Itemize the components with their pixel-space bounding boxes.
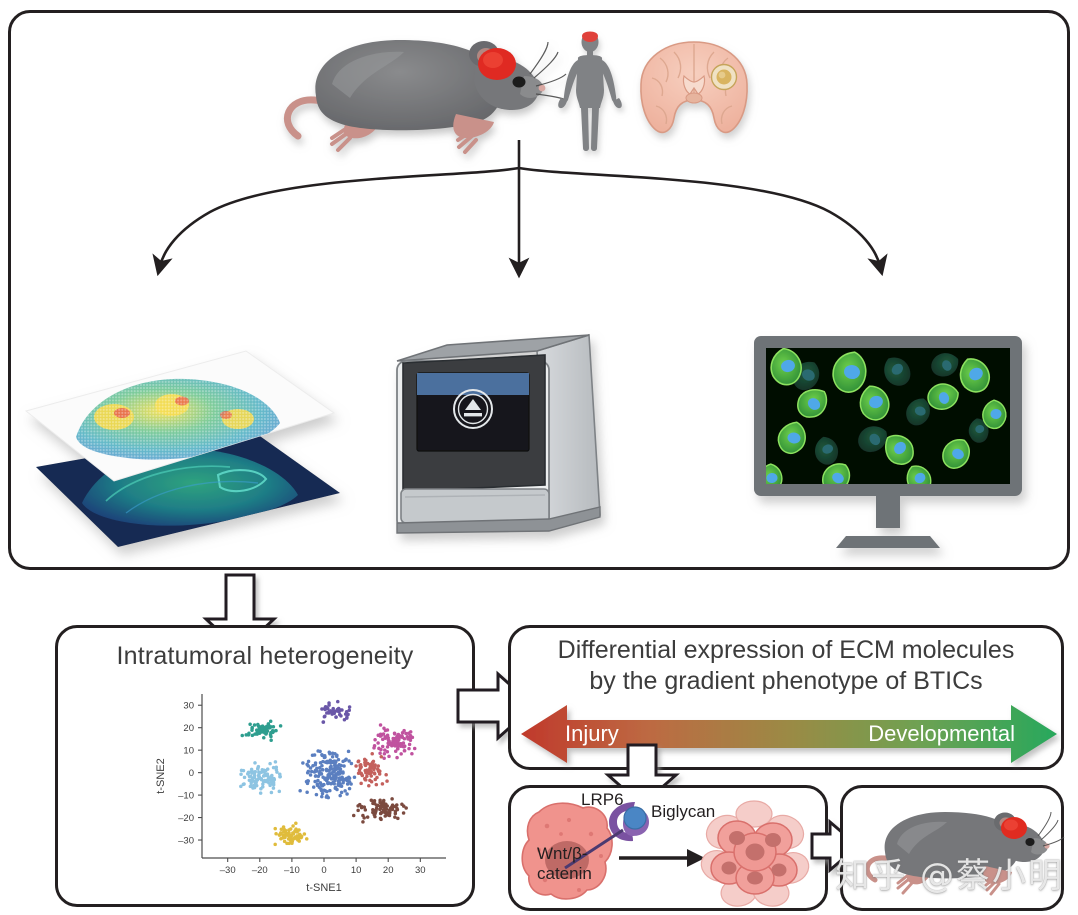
spatial-transcriptomics-illustration bbox=[22, 325, 352, 560]
svg-text:–30: –30 bbox=[178, 835, 194, 846]
tsne-cluster bbox=[320, 700, 351, 724]
svg-text:20: 20 bbox=[383, 865, 394, 876]
wnt-pathway-line1: Wnt/β- bbox=[537, 844, 587, 863]
ecm-expression-panel: Differential expression of ECM molecules… bbox=[508, 625, 1064, 770]
imaging-monitor-illustration bbox=[748, 330, 1028, 555]
pathway-to-sphere-arrow bbox=[619, 846, 705, 870]
svg-text:–10: –10 bbox=[178, 790, 194, 801]
gradient-left-label: Injury bbox=[565, 721, 619, 747]
svg-text:t-SNE2: t-SNE2 bbox=[155, 758, 167, 793]
svg-text:–20: –20 bbox=[252, 865, 268, 876]
tumor-sphere-illustration bbox=[701, 802, 807, 904]
wnt-pathway-label: Wnt/β- catenin bbox=[537, 844, 592, 884]
mouse-illustration bbox=[280, 18, 550, 158]
svg-text:t-SNE1: t-SNE1 bbox=[306, 882, 341, 894]
brain-section-illustration bbox=[634, 36, 754, 144]
ecm-panel-title: Differential expression of ECM molecules… bbox=[511, 635, 1061, 697]
svg-text:–30: –30 bbox=[220, 865, 236, 876]
mouse-model-illustration bbox=[859, 796, 1055, 904]
ecm-title-line2: by the gradient phenotype of BTICs bbox=[511, 666, 1061, 697]
tsne-scatter-plot: –30–20–100102030–30–20–100102030t-SNE1t-… bbox=[150, 686, 450, 901]
lrp6-label: LRP6 bbox=[581, 790, 624, 810]
gradient-right-label: Developmental bbox=[868, 721, 1015, 747]
ecm-title-line1: Differential expression of ECM molecules bbox=[511, 635, 1061, 666]
svg-text:10: 10 bbox=[183, 746, 194, 757]
intratumoral-heterogeneity-panel: Intratumoral heterogeneity –30–20–100102… bbox=[55, 625, 475, 907]
tsne-cluster bbox=[239, 760, 282, 795]
wnt-pathway-line2: catenin bbox=[537, 864, 592, 883]
svg-text:0: 0 bbox=[189, 768, 194, 779]
tsne-cluster bbox=[273, 821, 308, 846]
in-vivo-mouse-panel bbox=[840, 785, 1064, 911]
tsne-cluster bbox=[241, 719, 283, 742]
human-figure-illustration bbox=[556, 28, 624, 153]
wnt-signaling-panel: LRP6 Biglycan Wnt/β- catenin bbox=[508, 785, 828, 911]
tsne-cluster bbox=[372, 723, 416, 760]
svg-text:0: 0 bbox=[321, 865, 326, 876]
svg-text:30: 30 bbox=[183, 701, 194, 712]
tsne-cluster bbox=[298, 749, 356, 799]
tsne-cluster bbox=[352, 797, 408, 823]
svg-text:–10: –10 bbox=[284, 865, 300, 876]
svg-text:20: 20 bbox=[183, 723, 194, 734]
sequencer-illustration bbox=[385, 325, 615, 545]
branch-arrows bbox=[60, 140, 860, 300]
svg-text:30: 30 bbox=[415, 865, 426, 876]
tsne-panel-title: Intratumoral heterogeneity bbox=[58, 642, 472, 671]
svg-text:10: 10 bbox=[351, 865, 362, 876]
svg-text:–20: –20 bbox=[178, 813, 194, 824]
